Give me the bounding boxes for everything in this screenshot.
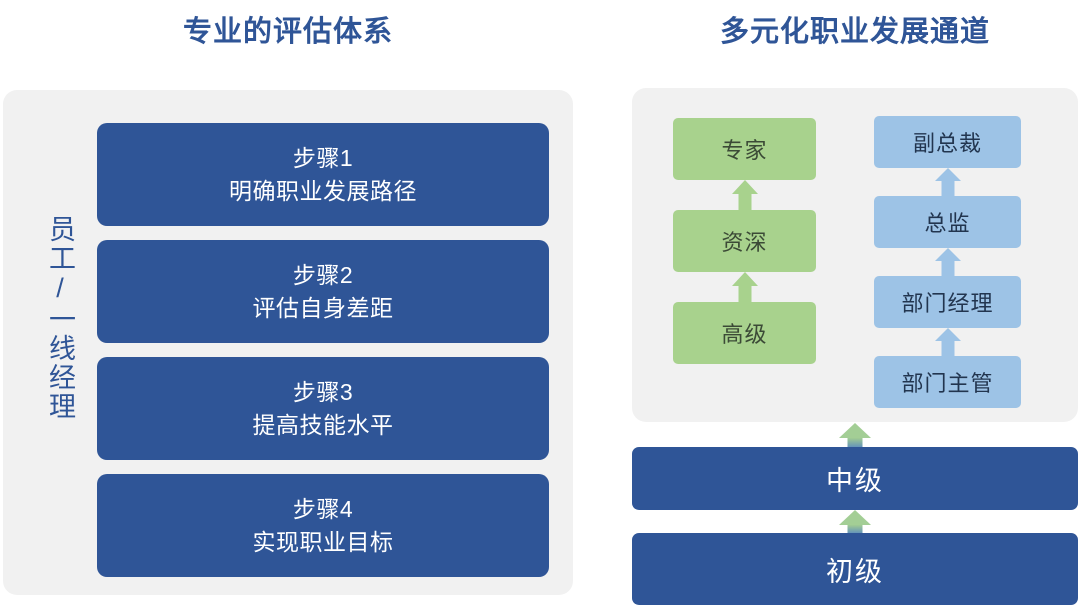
step-description: 实现职业目标 bbox=[253, 526, 394, 559]
left-section-title: 专业的评估体系 bbox=[0, 8, 576, 50]
step-description: 明确职业发展路径 bbox=[229, 175, 417, 208]
expert-level-expert[interactable]: 专家 bbox=[673, 118, 816, 180]
arrow-up-icon bbox=[839, 423, 871, 448]
arrow-up-icon bbox=[732, 272, 758, 302]
step-description: 提高技能水平 bbox=[253, 409, 394, 442]
step-description: 评估自身差距 bbox=[253, 292, 394, 325]
step-number: 步骤1 bbox=[293, 142, 353, 175]
management-level-supervisor[interactable]: 部门主管 bbox=[874, 356, 1021, 408]
step-number: 步骤3 bbox=[293, 376, 353, 409]
arrow-up-icon bbox=[935, 168, 961, 196]
arrow-up-icon bbox=[839, 510, 871, 534]
step-card-2[interactable]: 步骤2 评估自身差距 bbox=[97, 240, 549, 343]
expert-track-ladder: 高级 资深 专家 bbox=[673, 118, 816, 364]
employee-role-vertical-label: 员工/一线经理 bbox=[32, 215, 76, 421]
step-card-3[interactable]: 步骤3 提高技能水平 bbox=[97, 357, 549, 460]
base-level-junior[interactable]: 初级 bbox=[632, 533, 1078, 605]
arrow-up-icon bbox=[935, 248, 961, 276]
step-card-4[interactable]: 步骤4 实现职业目标 bbox=[97, 474, 549, 577]
step-number: 步骤4 bbox=[293, 493, 353, 526]
step-list: 步骤1 明确职业发展路径 步骤2 评估自身差距 步骤3 提高技能水平 步骤4 实… bbox=[97, 123, 549, 591]
arrow-up-icon bbox=[935, 328, 961, 356]
arrow-up-icon bbox=[732, 180, 758, 210]
right-section-title: 多元化职业发展通道 bbox=[630, 8, 1080, 50]
management-level-vice-president[interactable]: 副总裁 bbox=[874, 116, 1021, 168]
management-level-department-manager[interactable]: 部门经理 bbox=[874, 276, 1021, 328]
management-track-ladder: 部门主管 部门经理 总监 副总裁 bbox=[874, 116, 1021, 408]
expert-level-veteran[interactable]: 资深 bbox=[673, 210, 816, 272]
base-level-intermediate[interactable]: 中级 bbox=[632, 447, 1078, 510]
step-card-1[interactable]: 步骤1 明确职业发展路径 bbox=[97, 123, 549, 226]
step-number: 步骤2 bbox=[293, 259, 353, 292]
expert-level-senior-advanced[interactable]: 高级 bbox=[673, 302, 816, 364]
management-level-director[interactable]: 总监 bbox=[874, 196, 1021, 248]
